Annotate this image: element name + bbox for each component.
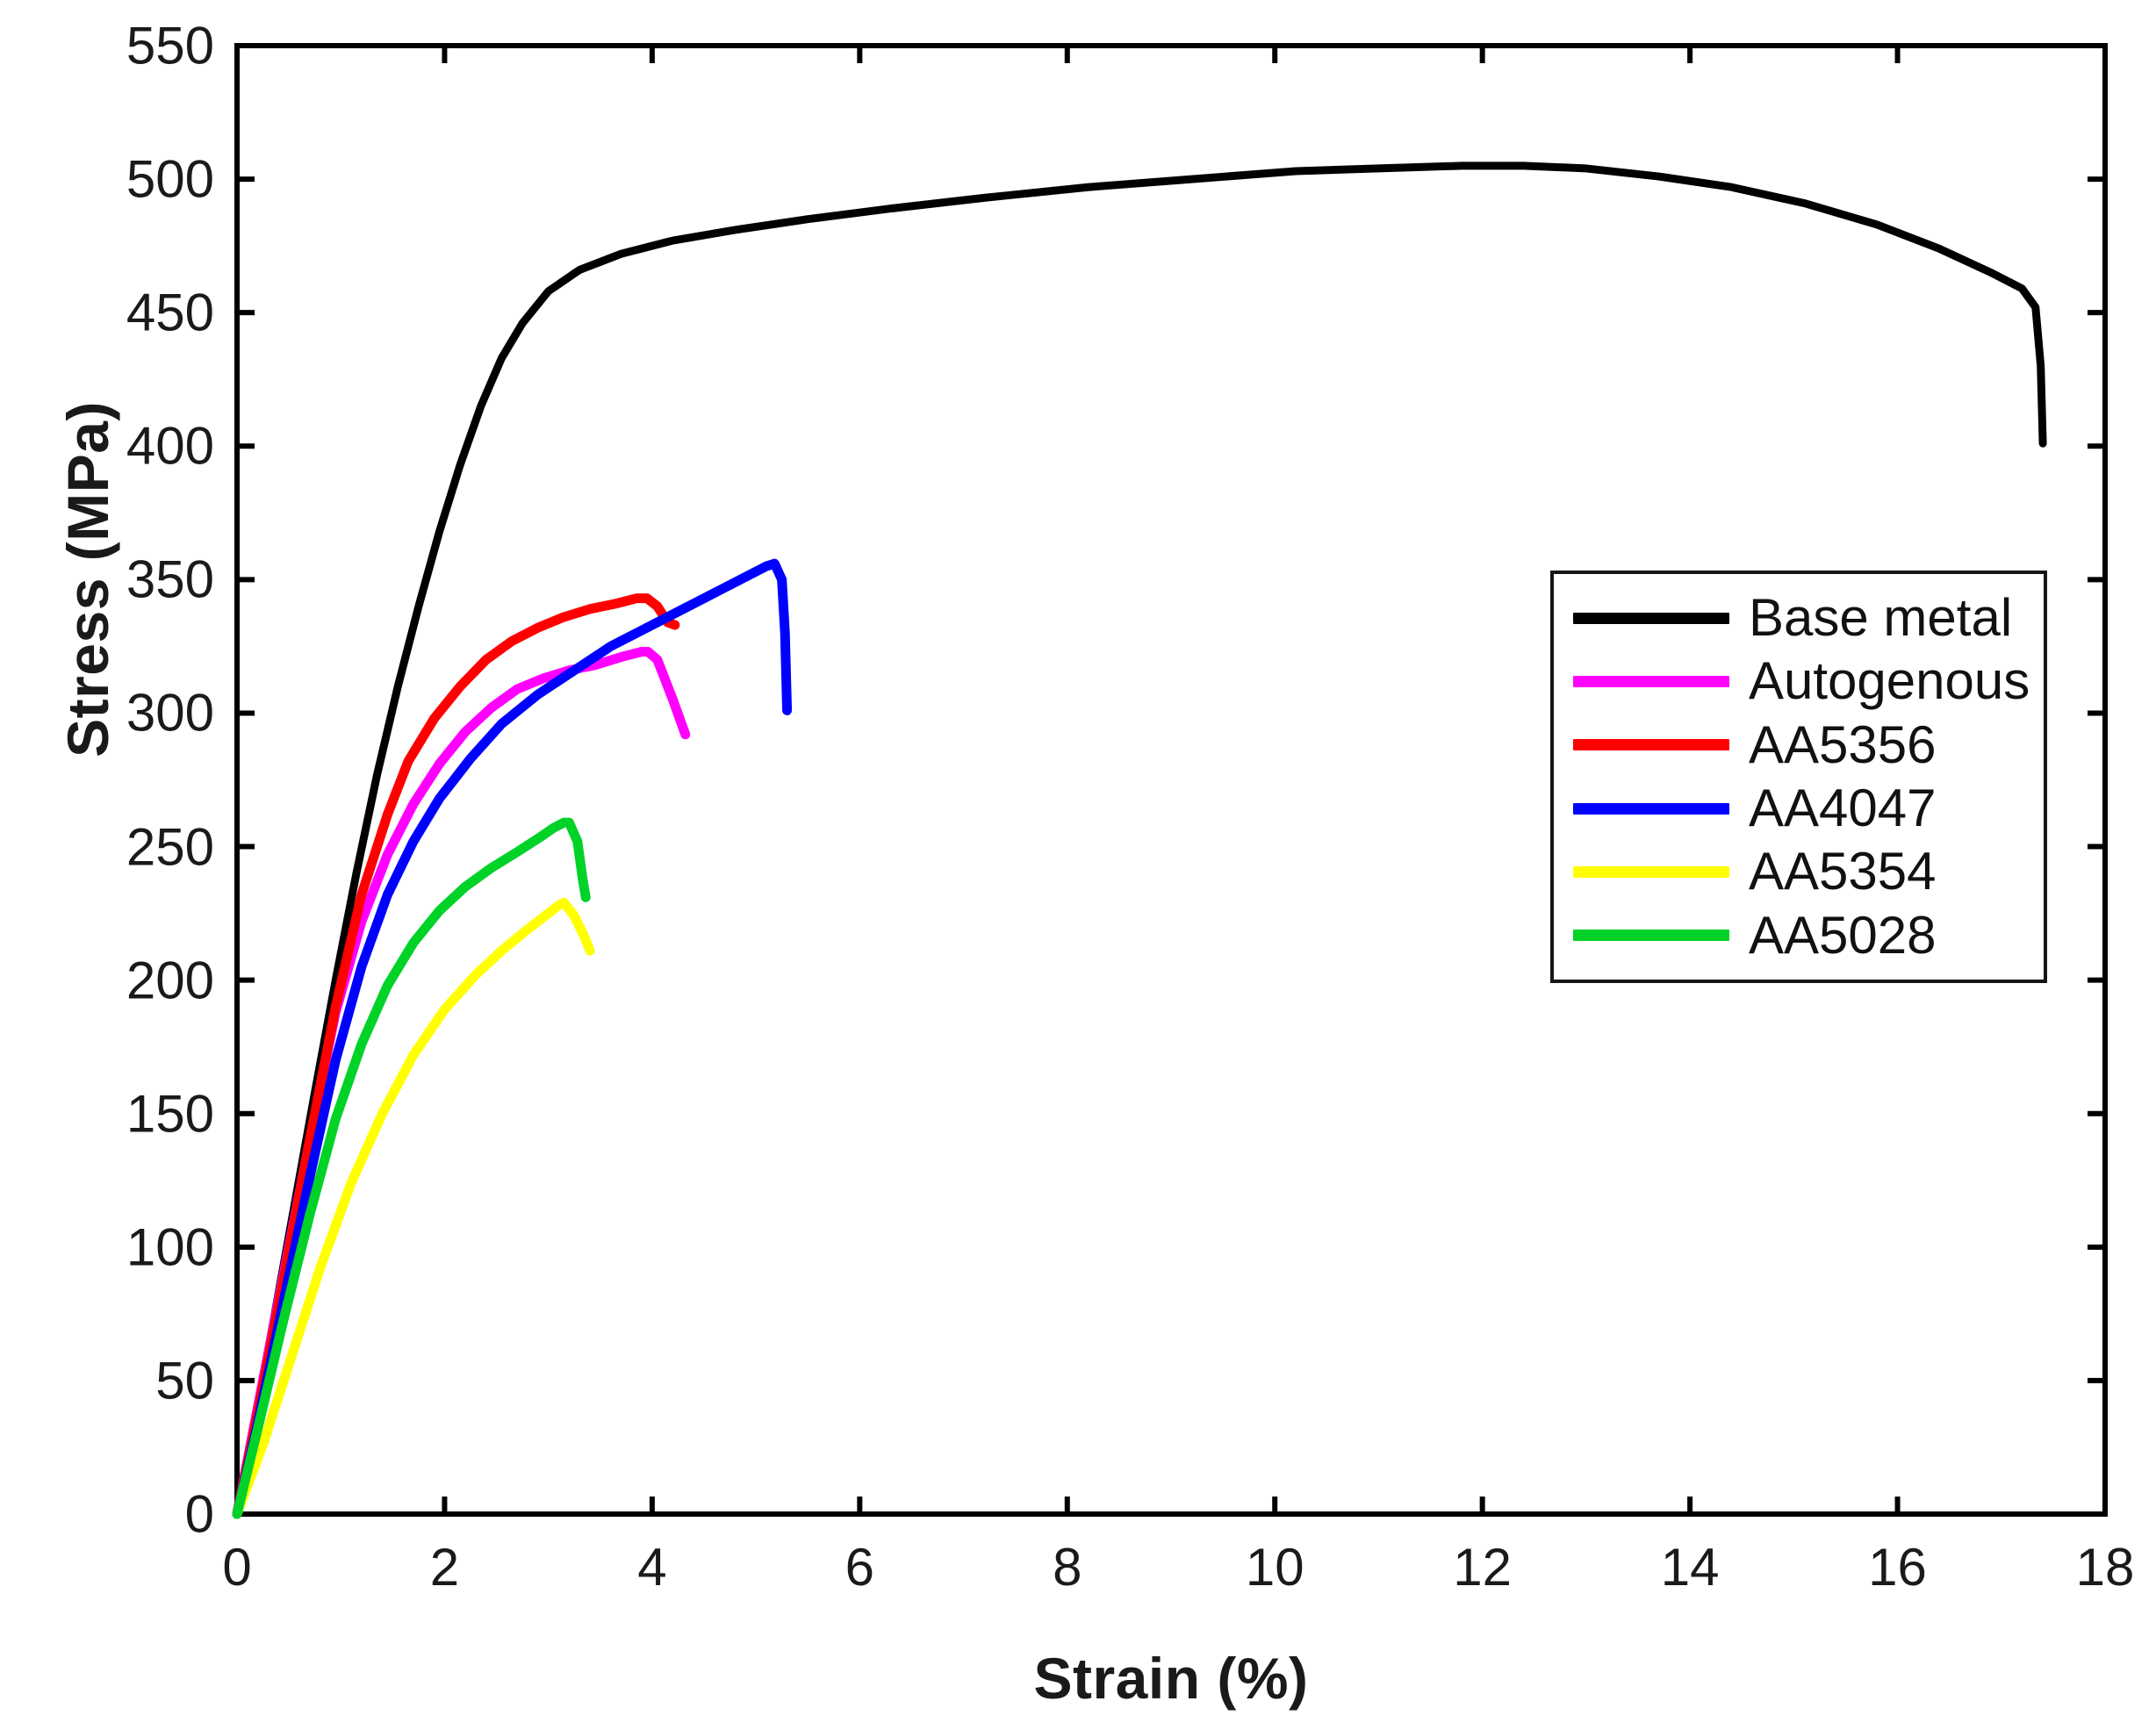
x-axis-title-wrapper: Strain (%) bbox=[237, 1634, 2105, 1722]
y-axis-title-wrapper: Stress (MPa) bbox=[35, 228, 140, 930]
legend-label: AA5354 bbox=[1749, 845, 1937, 898]
y-tick-label: 200 bbox=[126, 950, 214, 1010]
x-tick-label: 0 bbox=[222, 1537, 251, 1597]
legend-item: Autogenous bbox=[1554, 654, 2044, 708]
series-line-aa4047 bbox=[237, 564, 787, 1514]
legend-item: AA5354 bbox=[1554, 844, 2044, 899]
x-tick-label: 14 bbox=[1661, 1537, 1720, 1597]
y-axis-title: Stress (MPa) bbox=[54, 401, 121, 757]
series-line-autogenous bbox=[237, 651, 686, 1514]
legend-item: AA5356 bbox=[1554, 718, 2044, 772]
x-tick-label: 2 bbox=[430, 1537, 459, 1597]
legend-color-swatch bbox=[1573, 739, 1729, 750]
legend-label: AA5028 bbox=[1749, 909, 1937, 962]
legend-label: Autogenous bbox=[1749, 655, 2030, 707]
legend-item: Base metal bbox=[1554, 591, 2044, 645]
y-tick-label: 0 bbox=[185, 1484, 214, 1545]
stress-strain-chart: 050100150200250300350400450500550 024681… bbox=[0, 0, 2156, 1730]
y-tick-label: 500 bbox=[126, 149, 214, 210]
legend-label: AA4047 bbox=[1749, 782, 1937, 835]
legend-item: AA4047 bbox=[1554, 781, 2044, 836]
legend-color-swatch bbox=[1573, 613, 1729, 624]
x-tick-label: 16 bbox=[1868, 1537, 1927, 1597]
y-tick-label: 50 bbox=[155, 1350, 214, 1411]
x-tick-label: 8 bbox=[1053, 1537, 1082, 1597]
legend: Base metalAutogenousAA5356AA4047AA5354AA… bbox=[1550, 571, 2047, 983]
x-tick-label: 6 bbox=[845, 1537, 874, 1597]
y-tick-label: 100 bbox=[126, 1217, 214, 1277]
legend-item: AA5028 bbox=[1554, 908, 2044, 963]
x-tick-label: 12 bbox=[1453, 1537, 1512, 1597]
legend-color-swatch bbox=[1573, 866, 1729, 878]
x-axis-title: Strain (%) bbox=[1033, 1645, 1308, 1712]
y-tick-label: 150 bbox=[126, 1083, 214, 1144]
legend-label: Base metal bbox=[1749, 592, 2012, 644]
x-tick-label: 10 bbox=[1246, 1537, 1304, 1597]
legend-color-swatch bbox=[1573, 803, 1729, 815]
x-tick-label: 18 bbox=[2076, 1537, 2135, 1597]
legend-color-swatch bbox=[1573, 930, 1729, 941]
y-tick-label: 550 bbox=[126, 16, 214, 76]
legend-color-swatch bbox=[1573, 676, 1729, 687]
x-tick-label: 4 bbox=[637, 1537, 666, 1597]
legend-label: AA5356 bbox=[1749, 719, 1937, 772]
